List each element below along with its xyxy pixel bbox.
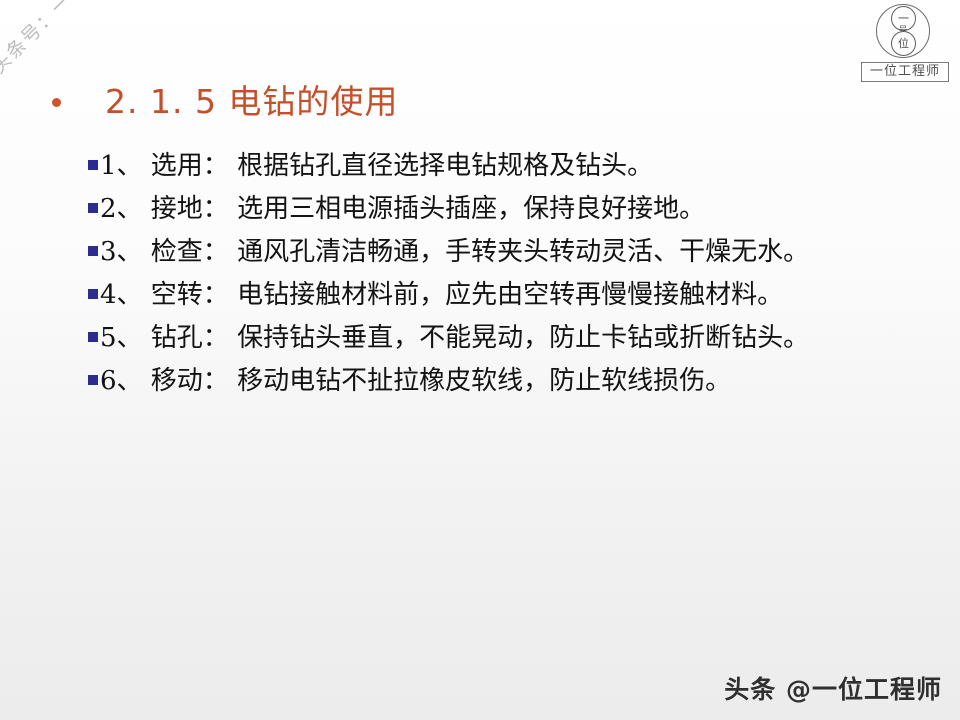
title-bullet-icon xyxy=(52,98,61,107)
square-bullet-icon xyxy=(88,375,98,385)
list-item: 3、 检查： 通风孔清洁畅通，手转夹头转动灵活、干燥无水。 xyxy=(88,234,948,277)
list-item-text: 5、 钻孔： 保持钻头垂直，不能晃动，防止卡钻或折断钻头。 xyxy=(100,320,809,356)
list-item-text: 1、 选用： 根据钻孔直径选择电钻规格及钻头。 xyxy=(100,148,653,184)
square-bullet-icon xyxy=(88,246,98,256)
list-item: 6、 移动： 移动电钻不扯拉橡皮软线，防止软线损伤。 xyxy=(88,363,948,406)
logo-label: 一位工程师 xyxy=(861,62,949,82)
square-bullet-icon xyxy=(88,203,98,213)
slide-canvas: 一 号 位 一位工程师 头条号：一位工程师 2. 1. 5 电钻的使用 1、 选… xyxy=(0,0,960,720)
list-item: 1、 选用： 根据钻孔直径选择电钻规格及钻头。 xyxy=(88,148,948,191)
square-bullet-icon xyxy=(88,289,98,299)
logo-inner-circle-bottom: 位 xyxy=(891,31,916,56)
list-item-text: 3、 检查： 通风孔清洁畅通，手转夹头转动灵活、干燥无水。 xyxy=(100,234,809,270)
list-item: 2、 接地： 选用三相电源插头插座，保持良好接地。 xyxy=(88,191,948,234)
list-item: 5、 钻孔： 保持钻头垂直，不能晃动，防止卡钻或折断钻头。 xyxy=(88,320,948,363)
brand-logo: 一 号 位 一位工程师 xyxy=(858,4,952,82)
list-item-text: 6、 移动： 移动电钻不扯拉橡皮软线，防止软线损伤。 xyxy=(100,363,731,399)
slide-title-row: 2. 1. 5 电钻的使用 xyxy=(52,82,398,122)
page-title: 2. 1. 5 电钻的使用 xyxy=(105,82,398,122)
square-bullet-icon xyxy=(88,332,98,342)
diagonal-watermark: 头条号：一位工程师 xyxy=(0,0,137,79)
logo-mark: 一 号 位 xyxy=(876,4,934,60)
bottom-watermark: 头条 @一位工程师 xyxy=(724,670,942,706)
body-list: 1、 选用： 根据钻孔直径选择电钻规格及钻头。 2、 接地： 选用三相电源插头插… xyxy=(88,148,948,406)
list-item-text: 2、 接地： 选用三相电源插头插座，保持良好接地。 xyxy=(100,191,705,227)
list-item-text: 4、 空转： 电钻接触材料前，应先由空转再慢慢接触材料。 xyxy=(100,277,783,313)
list-item: 4、 空转： 电钻接触材料前，应先由空转再慢慢接触材料。 xyxy=(88,277,948,320)
square-bullet-icon xyxy=(88,160,98,170)
